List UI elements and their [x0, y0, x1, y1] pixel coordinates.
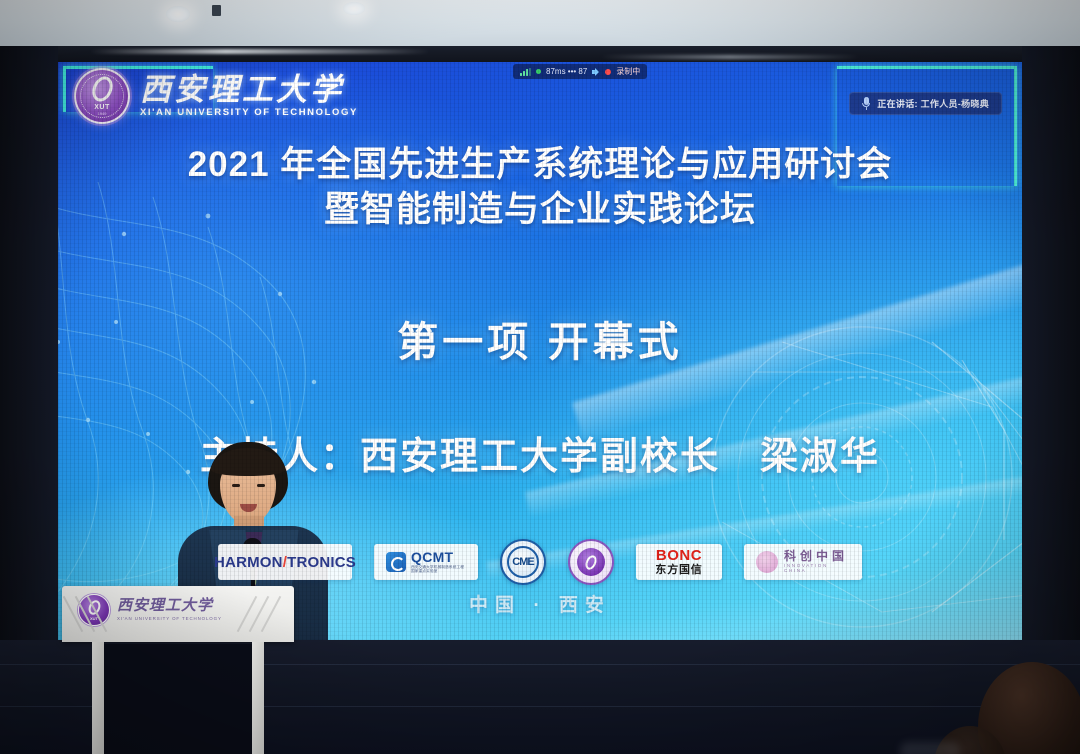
bonc-name-cn: 东方国信	[655, 564, 702, 576]
presenter-eye	[232, 484, 240, 487]
harmontronics-wordmark: HARMON/TRONICS	[214, 554, 356, 571]
slide-title-line2: 暨智能制造与企业实践论坛	[58, 189, 1022, 230]
lectern-stripes-left	[66, 594, 110, 634]
lectern-shadow	[104, 644, 252, 754]
recording-dot-icon	[605, 69, 611, 75]
university-name-cn: 西安理工大学	[140, 74, 358, 107]
cmes-badge-icon: CME	[500, 539, 546, 585]
wall-highlight	[90, 49, 430, 54]
speaker-icon	[592, 68, 600, 76]
ceiling-light-icon	[343, 2, 365, 15]
ceiling-vent-icon	[212, 5, 221, 16]
sponsor-logo-innovation-china: 科创中国 INNOVATION CHINA	[744, 544, 862, 580]
slide-title-block: 2021 年全国先进生产系统理论与应用研讨会 暨智能制造与企业实践论坛	[58, 144, 1022, 231]
cmes-initials: CME	[507, 546, 539, 578]
audience-blur	[900, 742, 960, 754]
microphone-icon	[862, 97, 870, 110]
led-presentation-screen: XUT 1949 西安理工大学 XI'AN UNIVERSITY OF TECH…	[58, 62, 1022, 640]
sponsor-logo-harmontronics: HARMON/TRONICS	[218, 544, 352, 580]
ceiling	[0, 0, 1080, 46]
xut-seal-icon: XUT 1949	[74, 68, 130, 124]
wall-left	[0, 46, 58, 686]
university-logo: XUT 1949 西安理工大学 XI'AN UNIVERSITY OF TECH…	[74, 68, 358, 124]
signal-bars-icon	[520, 68, 531, 76]
recording-status-text: 录制中	[616, 66, 640, 77]
lectern-leg	[252, 642, 264, 754]
kechuang-mark-icon	[756, 551, 778, 573]
ceiling-light-icon	[166, 6, 190, 22]
network-latency-text: 87ms ••• 87	[546, 67, 587, 76]
lectern-front-panel: XUT 西安理工大学 XI'AN UNIVERSITY OF TECHNOLOG…	[62, 586, 294, 642]
conference-status-bar: 87ms ••• 87 录制中	[513, 64, 647, 79]
slide-subtitle: 第一项 开幕式	[58, 308, 1022, 368]
qcmt-name: QCMT	[411, 550, 466, 564]
wall-highlight	[600, 55, 860, 59]
sponsor-logo-bonc: BONC 东方国信	[636, 544, 722, 580]
bonc-name-en: BONC	[656, 548, 702, 565]
qcmt-mark-icon	[386, 552, 406, 572]
lectern-name-en: XI'AN UNIVERSITY OF TECHNOLOGY	[117, 616, 222, 621]
qcmt-subtitle: 西安交通大学机械制造系统工程国家重点实验室	[411, 566, 466, 573]
university-name-en: XI'AN UNIVERSITY OF TECHNOLOGY	[140, 107, 358, 118]
sponsor-logo-strip: HARMON/TRONICS QCMT 西安交通大学机械制造系统工程国家重点实验…	[58, 539, 1022, 585]
lectern-stripes-right	[240, 594, 284, 634]
active-speaker-badge: 正在讲话: 工作人员-杨晓典	[849, 92, 1002, 115]
wall-right	[1022, 46, 1080, 686]
lectern-leg	[92, 642, 104, 754]
sponsor-logo-qcmt: QCMT 西安交通大学机械制造系统工程国家重点实验室	[374, 544, 478, 580]
active-speaker-text: 正在讲话: 工作人员-杨晓典	[877, 97, 989, 110]
xut-seal-mark	[583, 553, 598, 571]
university-name-block: 西安理工大学 XI'AN UNIVERSITY OF TECHNOLOGY	[140, 74, 358, 119]
xut-seal-icon	[568, 539, 614, 585]
innovation-china-name-cn: 科创中国	[784, 550, 850, 563]
lectern: XUT 西安理工大学 XI'AN UNIVERSITY OF TECHNOLOG…	[62, 586, 294, 754]
innovation-china-name-en: INNOVATION CHINA	[784, 564, 850, 574]
conference-room-photo: XUT 1949 西安理工大学 XI'AN UNIVERSITY OF TECH…	[0, 0, 1080, 754]
lectern-name-cn: 西安理工大学	[117, 599, 222, 615]
slide-title-line1: 2021 年全国先进生产系统理论与应用研讨会	[58, 144, 1022, 185]
presenter-eye	[257, 484, 265, 487]
status-dot-icon	[536, 69, 541, 74]
